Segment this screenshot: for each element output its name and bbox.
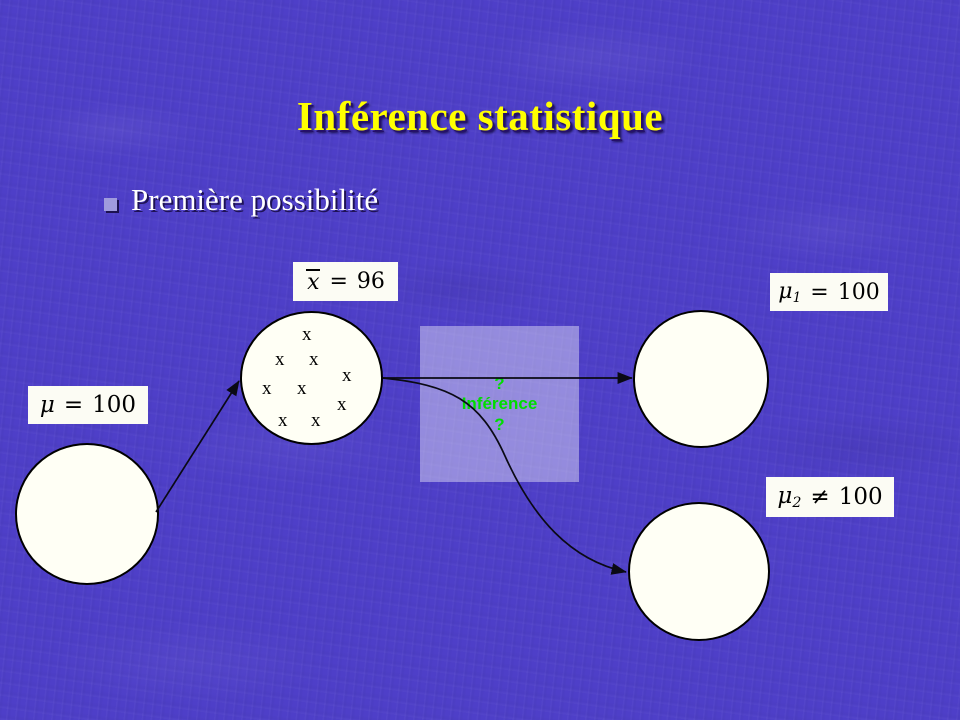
sample-observation-x: x	[275, 350, 285, 369]
equation-mu1: μ1=100	[770, 273, 888, 311]
conclusion-circle-2	[628, 502, 770, 641]
sample-observation-x: x	[302, 325, 312, 344]
equation-mu2: μ2≠100	[766, 477, 894, 517]
sample-observation-x: x	[337, 395, 347, 414]
sample-observation-x: x	[311, 411, 321, 430]
conclusion-circle-1	[633, 310, 769, 448]
equation-xbar: x=96	[293, 262, 398, 301]
inference-label: Inférence	[462, 394, 538, 414]
sample-observation-x: x	[262, 379, 272, 398]
sample-circle: x x x x x x x x x	[240, 311, 383, 445]
sample-observation-x: x	[342, 366, 352, 385]
bullet-item-premiere-possibilite: Première possibilité	[104, 182, 378, 218]
slide-canvas: Inférence statistique Première possibili…	[0, 0, 960, 720]
page-title: Inférence statistique	[0, 92, 960, 140]
sample-observation-x: x	[297, 379, 307, 398]
inference-panel: ? Inférence ?	[420, 326, 579, 482]
equation-mu: μ=100	[28, 386, 148, 424]
sample-observation-x: x	[309, 350, 319, 369]
population-circle	[15, 443, 159, 585]
bullet-item-label: Première possibilité	[131, 182, 378, 218]
square-bullet-icon	[104, 198, 117, 211]
inference-question-bottom: ?	[494, 415, 504, 435]
inference-question-top: ?	[494, 374, 504, 394]
arrow-population-to-sample	[156, 381, 239, 512]
sample-observation-x: x	[278, 411, 288, 430]
